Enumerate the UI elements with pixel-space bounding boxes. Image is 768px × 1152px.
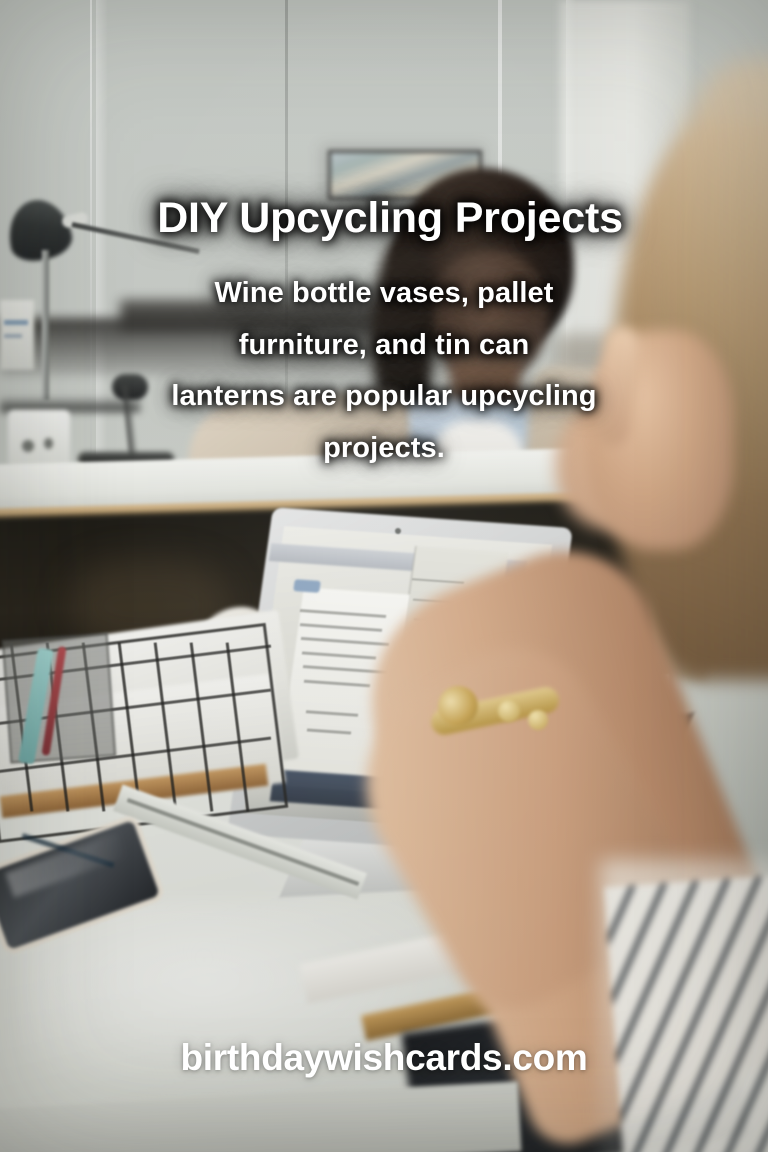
- subtitle-line-1: Wine bottle vases, pallet: [118, 268, 650, 320]
- subtitle-line-3: lanterns are popular upcycling: [118, 371, 650, 423]
- pinterest-pin-card: DIY Upcycling Projects Wine bottle vases…: [0, 0, 768, 1152]
- text-overlay: DIY Upcycling Projects Wine bottle vases…: [0, 0, 768, 1152]
- website-watermark[interactable]: birthdaywishcards.com: [0, 1037, 768, 1079]
- subtitle-line-4: projects.: [118, 423, 650, 475]
- subtitle-block: Wine bottle vases, pallet furniture, and…: [118, 268, 650, 474]
- subtitle-line-2: furniture, and tin can: [118, 320, 650, 372]
- page-title: DIY Upcycling Projects: [0, 196, 768, 242]
